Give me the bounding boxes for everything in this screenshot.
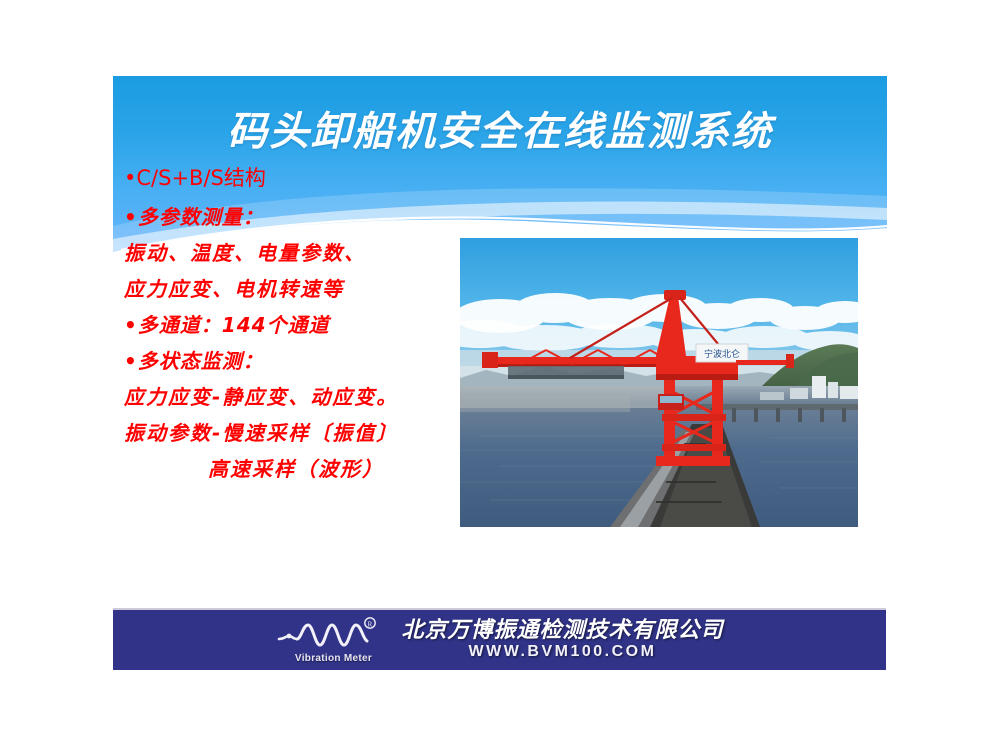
vibration-waveform-icon: R: [275, 617, 387, 653]
registered-mark: R: [368, 620, 373, 628]
crane-sign-text: 宁波北仑: [704, 348, 740, 360]
list-item: 应力应变-静应变、动应变。: [124, 387, 464, 407]
list-item: 振动、温度、电量参数、: [124, 243, 464, 263]
list-item: 高速采样（波形）: [124, 459, 464, 479]
list-item: •多通道：144个通道: [124, 315, 464, 335]
list-item: •C/S+B/S结构: [124, 168, 464, 189]
list-item: •多状态监测：: [124, 351, 464, 371]
company-name: 北京万博振通检测技术有限公司: [401, 619, 723, 642]
page-title: 码头卸船机安全在线监测系统: [113, 99, 887, 157]
footer-bar: R Vibration Meter 北京万博振通检测技术有限公司 WWW.BVM…: [113, 608, 886, 670]
list-item: •多参数测量：: [124, 207, 464, 227]
harbor-crane-photo: 宁波北仑: [460, 238, 858, 527]
presentation-slide: 码头卸船机安全在线监测系统 •C/S+B/S结构 •多参数测量： 振动、温度、电…: [0, 0, 1000, 750]
bullet-list: •C/S+B/S结构 •多参数测量： 振动、温度、电量参数、 应力应变、电机转速…: [124, 168, 464, 495]
company-logo: R Vibration Meter: [275, 617, 387, 663]
list-item: 应力应变、电机转速等: [124, 279, 464, 299]
list-item: 振动参数-慢速采样〔振值〕: [124, 423, 464, 443]
photo-illustration: 宁波北仑: [460, 238, 858, 527]
logo-wordmark: Vibration Meter: [279, 653, 387, 664]
company-url: WWW.BVM100.COM: [469, 644, 657, 661]
